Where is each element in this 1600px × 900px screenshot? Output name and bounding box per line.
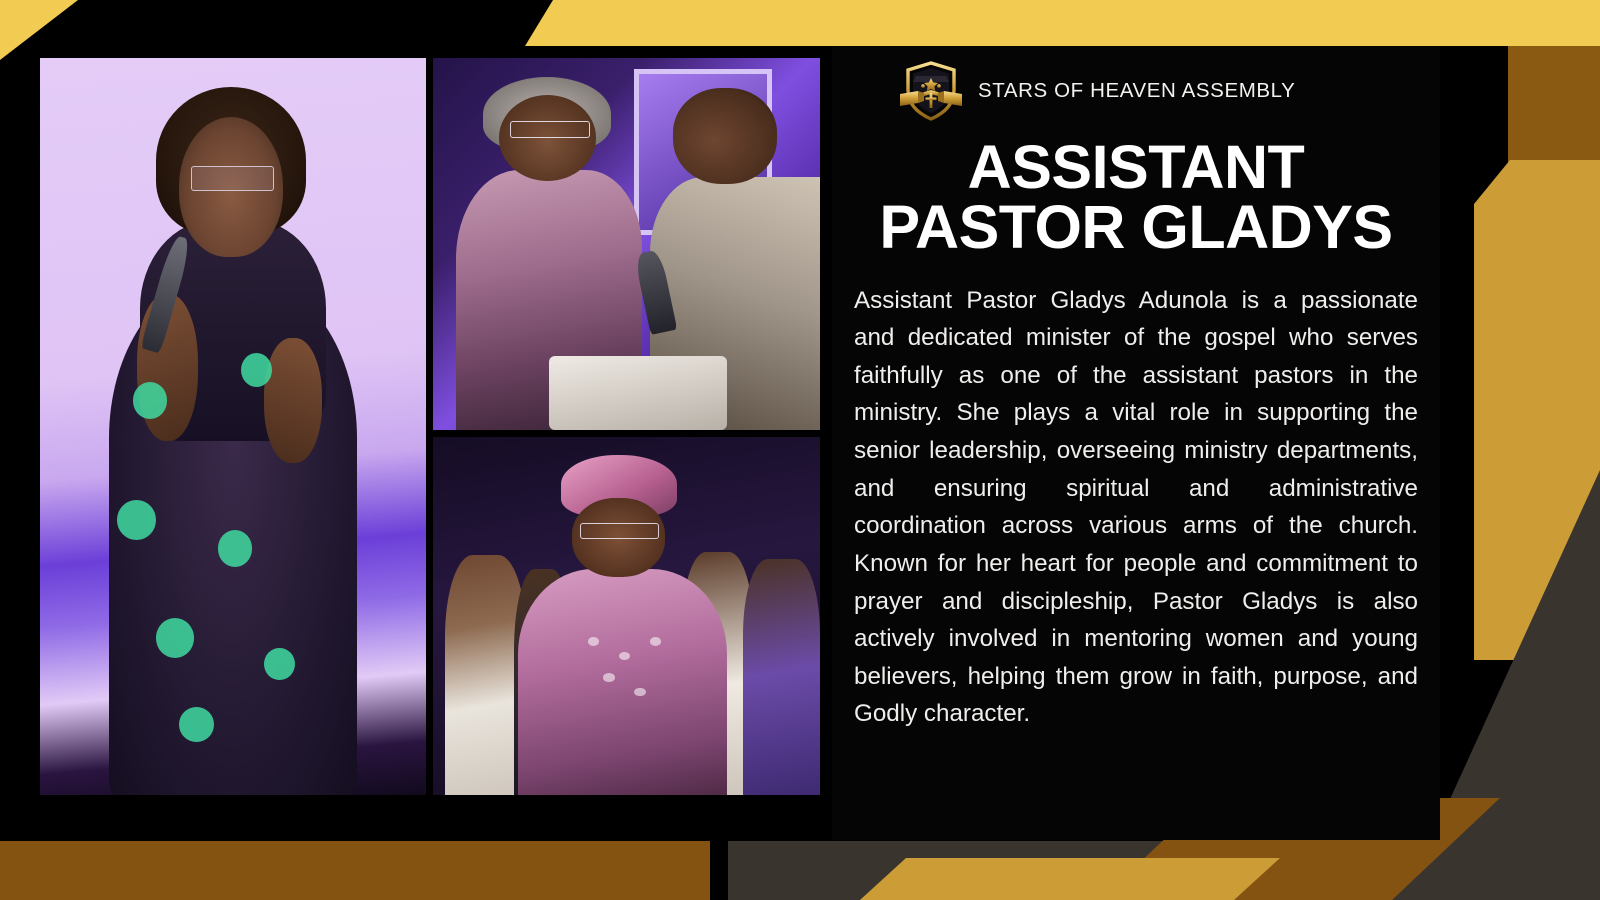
title-line-1: ASSISTANT	[968, 133, 1305, 201]
shield-crest-icon	[898, 60, 964, 122]
page-title: ASSISTANT PASTOR GLADYS	[832, 138, 1440, 258]
bottom-middle-gold-shape	[860, 858, 1280, 900]
photo-two-ministers	[433, 58, 820, 430]
photo-preaching	[40, 58, 426, 795]
bottom-left-gold-bar	[0, 841, 710, 900]
top-gold-band	[525, 0, 1455, 46]
top-right-gold-block	[1452, 0, 1600, 46]
title-line-2: PASTOR GLADYS	[879, 193, 1392, 261]
brand-name: STARS OF HEAVEN ASSEMBLY	[978, 79, 1295, 103]
top-left-gold-triangle	[0, 0, 80, 62]
brand-row: STARS OF HEAVEN ASSEMBLY	[832, 46, 1440, 122]
photo-congregation	[433, 437, 820, 795]
slide-canvas: STARS OF HEAVEN ASSEMBLY ASSISTANT PASTO…	[0, 0, 1600, 900]
biography-text: Assistant Pastor Gladys Adunola is a pas…	[854, 282, 1418, 734]
bottom-right-gray-corner	[1470, 841, 1600, 900]
content-panel: STARS OF HEAVEN ASSEMBLY ASSISTANT PASTO…	[832, 46, 1440, 840]
